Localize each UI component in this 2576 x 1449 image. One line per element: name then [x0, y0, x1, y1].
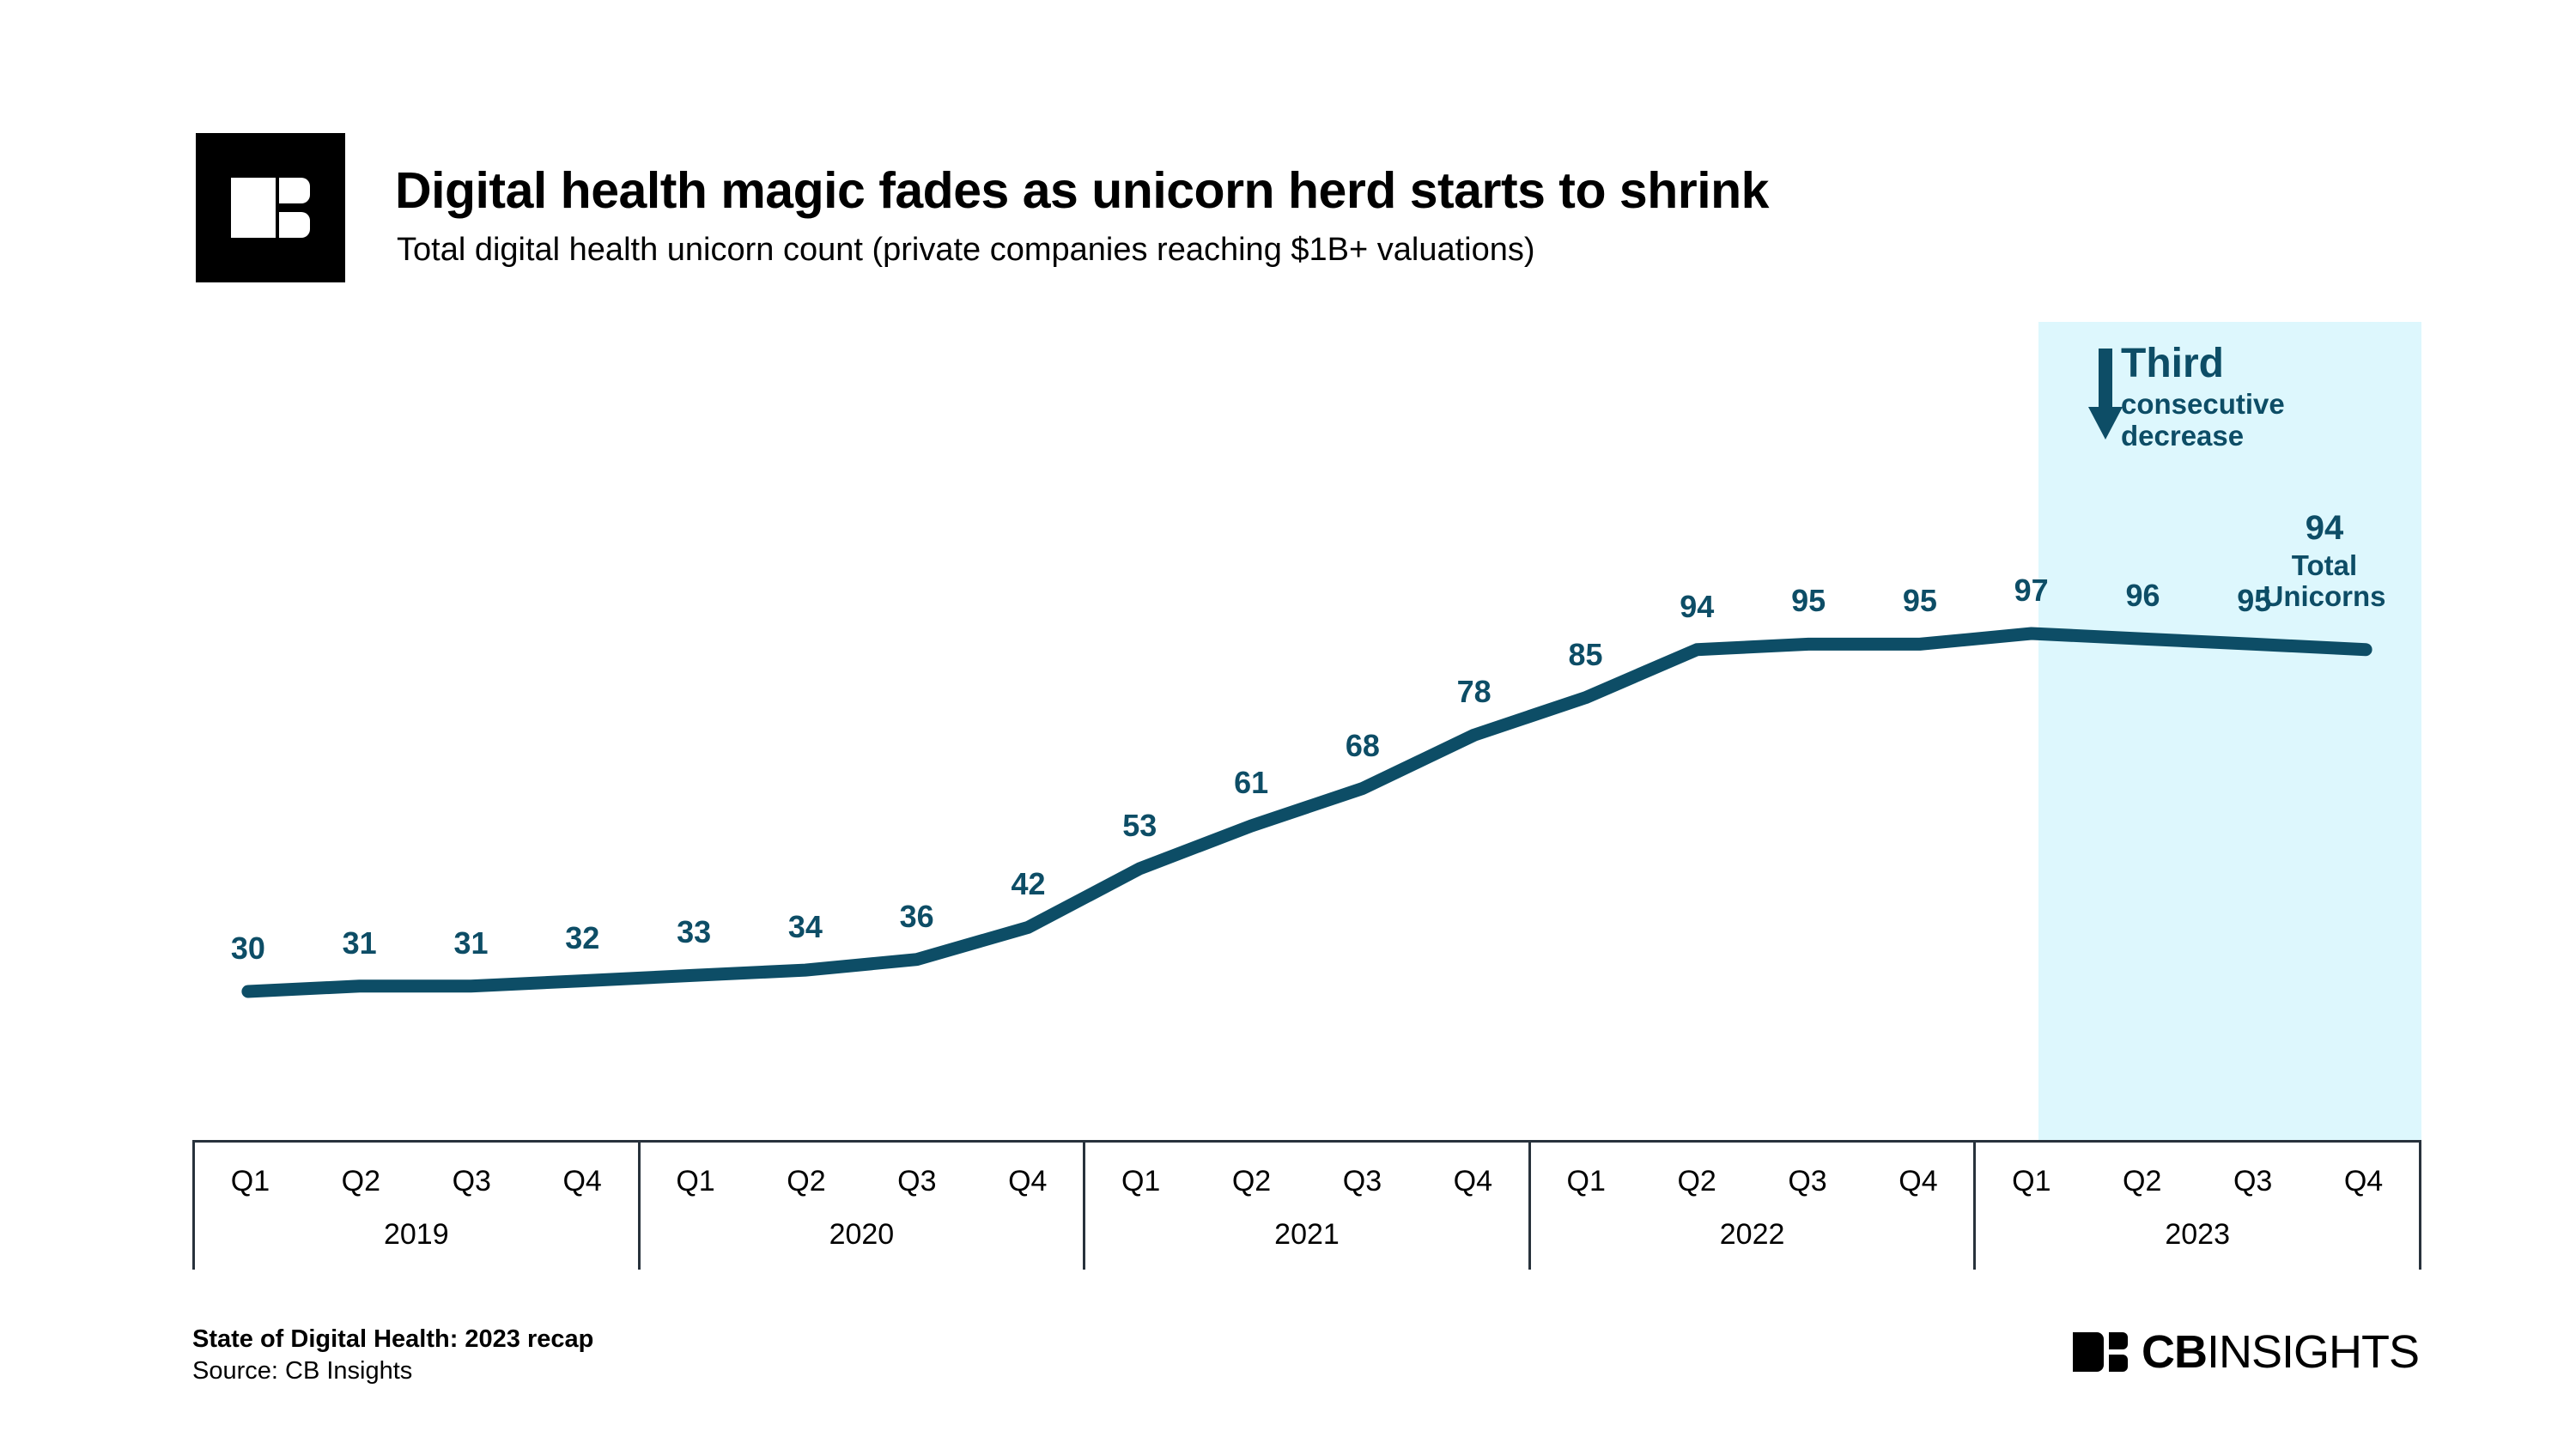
axis-quarter-label: Q2 — [1642, 1167, 1753, 1196]
data-point-label: 53 — [1122, 810, 1157, 841]
data-point-label: 33 — [677, 917, 711, 948]
data-point-label: 97 — [2014, 575, 2049, 606]
axis-quarter-label: Q1 — [641, 1167, 751, 1196]
data-point-label: 32 — [565, 923, 599, 954]
axis-year-group: Q1Q2Q3Q42021 — [1083, 1143, 1528, 1270]
axis-year-group: Q1Q2Q3Q42019 — [192, 1143, 638, 1270]
axis-quarter-label: Q4 — [1418, 1167, 1528, 1196]
x-axis: Q1Q2Q3Q42019Q1Q2Q3Q42020Q1Q2Q3Q42021Q1Q2… — [192, 1140, 2421, 1270]
data-point-label: 42 — [1011, 869, 1045, 900]
axis-quarter-label: Q4 — [972, 1167, 1083, 1196]
axis-quarter-label: Q3 — [861, 1167, 972, 1196]
footer-note: State of Digital Health: 2023 recap Sour… — [192, 1324, 593, 1387]
axis-quarter-label: Q2 — [2087, 1167, 2197, 1196]
axis-quarter-label: Q3 — [2197, 1167, 2308, 1196]
data-point-label: 95 — [1791, 585, 1826, 616]
end-value: 94 — [2263, 511, 2385, 545]
logo-text-insights: INSIGHTS — [2207, 1329, 2419, 1375]
axis-quarter-label: Q4 — [1863, 1167, 1974, 1196]
axis-quarter-label: Q1 — [1531, 1167, 1642, 1196]
data-point-label: 34 — [788, 912, 823, 943]
data-point-label: 31 — [343, 928, 377, 959]
axis-quarter-label: Q4 — [2308, 1167, 2419, 1196]
data-point-label: 68 — [1346, 731, 1380, 761]
data-point-label: 96 — [2125, 580, 2160, 611]
axis-quarter-label: Q3 — [416, 1167, 527, 1196]
end-caption-line2: Unicorns — [2263, 581, 2385, 612]
data-point-label: 61 — [1234, 767, 1268, 798]
data-point-label: 78 — [1457, 676, 1492, 707]
axis-quarter-label: Q1 — [1085, 1167, 1196, 1196]
page-title: Digital health magic fades as unicorn he… — [395, 166, 1769, 216]
callout-subtext-line1: consecutive — [2121, 389, 2404, 421]
cb-insights-mark-icon — [196, 133, 345, 282]
axis-year-label: 2019 — [195, 1220, 638, 1249]
logo-text-cb: CB — [2142, 1329, 2207, 1375]
axis-quarter-label: Q1 — [195, 1167, 306, 1196]
page-subtitle: Total digital health unicorn count (priv… — [397, 233, 1535, 266]
axis-year-label: 2020 — [641, 1220, 1084, 1249]
axis-year-label: 2023 — [1976, 1220, 2419, 1249]
data-point-label: 94 — [1680, 591, 1714, 622]
axis-year-label: 2022 — [1531, 1220, 1974, 1249]
end-of-series-label: 94 Total Unicorns — [2263, 511, 2385, 611]
data-point-label: 95 — [1903, 585, 1937, 616]
axis-quarter-label: Q2 — [1196, 1167, 1307, 1196]
footer-source-line: Source: CB Insights — [192, 1355, 593, 1387]
data-point-label: 36 — [900, 901, 934, 932]
axis-quarter-row: Q1Q2Q3Q4 — [1085, 1167, 1528, 1196]
data-point-label: 31 — [453, 928, 488, 959]
data-point-label: 85 — [1568, 640, 1602, 670]
axis-quarter-label: Q2 — [751, 1167, 862, 1196]
axis-quarter-label: Q1 — [1976, 1167, 2087, 1196]
axis-year-group: Q1Q2Q3Q42023 — [1973, 1143, 2421, 1270]
axis-quarter-label: Q3 — [1307, 1167, 1418, 1196]
data-point-label: 30 — [231, 933, 265, 964]
axis-quarter-row: Q1Q2Q3Q4 — [1531, 1167, 1974, 1196]
axis-year-label: 2021 — [1085, 1220, 1528, 1249]
callout-headline: Third — [2121, 343, 2404, 385]
end-caption: Total Unicorns — [2263, 550, 2385, 611]
callout-subtext: consecutive decrease — [2121, 389, 2404, 452]
callout-third-consecutive-decrease: Third consecutive decrease — [2121, 343, 2404, 452]
end-caption-line1: Total — [2263, 550, 2385, 581]
cb-insights-logo: CB INSIGHTS — [2073, 1329, 2419, 1375]
cb-insights-mark-icon — [2073, 1332, 2128, 1372]
axis-quarter-row: Q1Q2Q3Q4 — [641, 1167, 1084, 1196]
axis-year-group: Q1Q2Q3Q42020 — [638, 1143, 1084, 1270]
axis-quarter-label: Q2 — [306, 1167, 416, 1196]
axis-quarter-row: Q1Q2Q3Q4 — [1976, 1167, 2419, 1196]
axis-quarter-label: Q3 — [1753, 1167, 1863, 1196]
axis-year-group: Q1Q2Q3Q42022 — [1528, 1143, 1974, 1270]
axis-quarter-row: Q1Q2Q3Q4 — [195, 1167, 638, 1196]
footer-report-title: State of Digital Health: 2023 recap — [192, 1324, 593, 1355]
chart-header: Digital health magic fades as unicorn he… — [196, 133, 2428, 305]
axis-quarter-label: Q4 — [527, 1167, 638, 1196]
callout-subtext-line2: decrease — [2121, 421, 2404, 452]
down-arrow-icon — [2085, 349, 2126, 443]
